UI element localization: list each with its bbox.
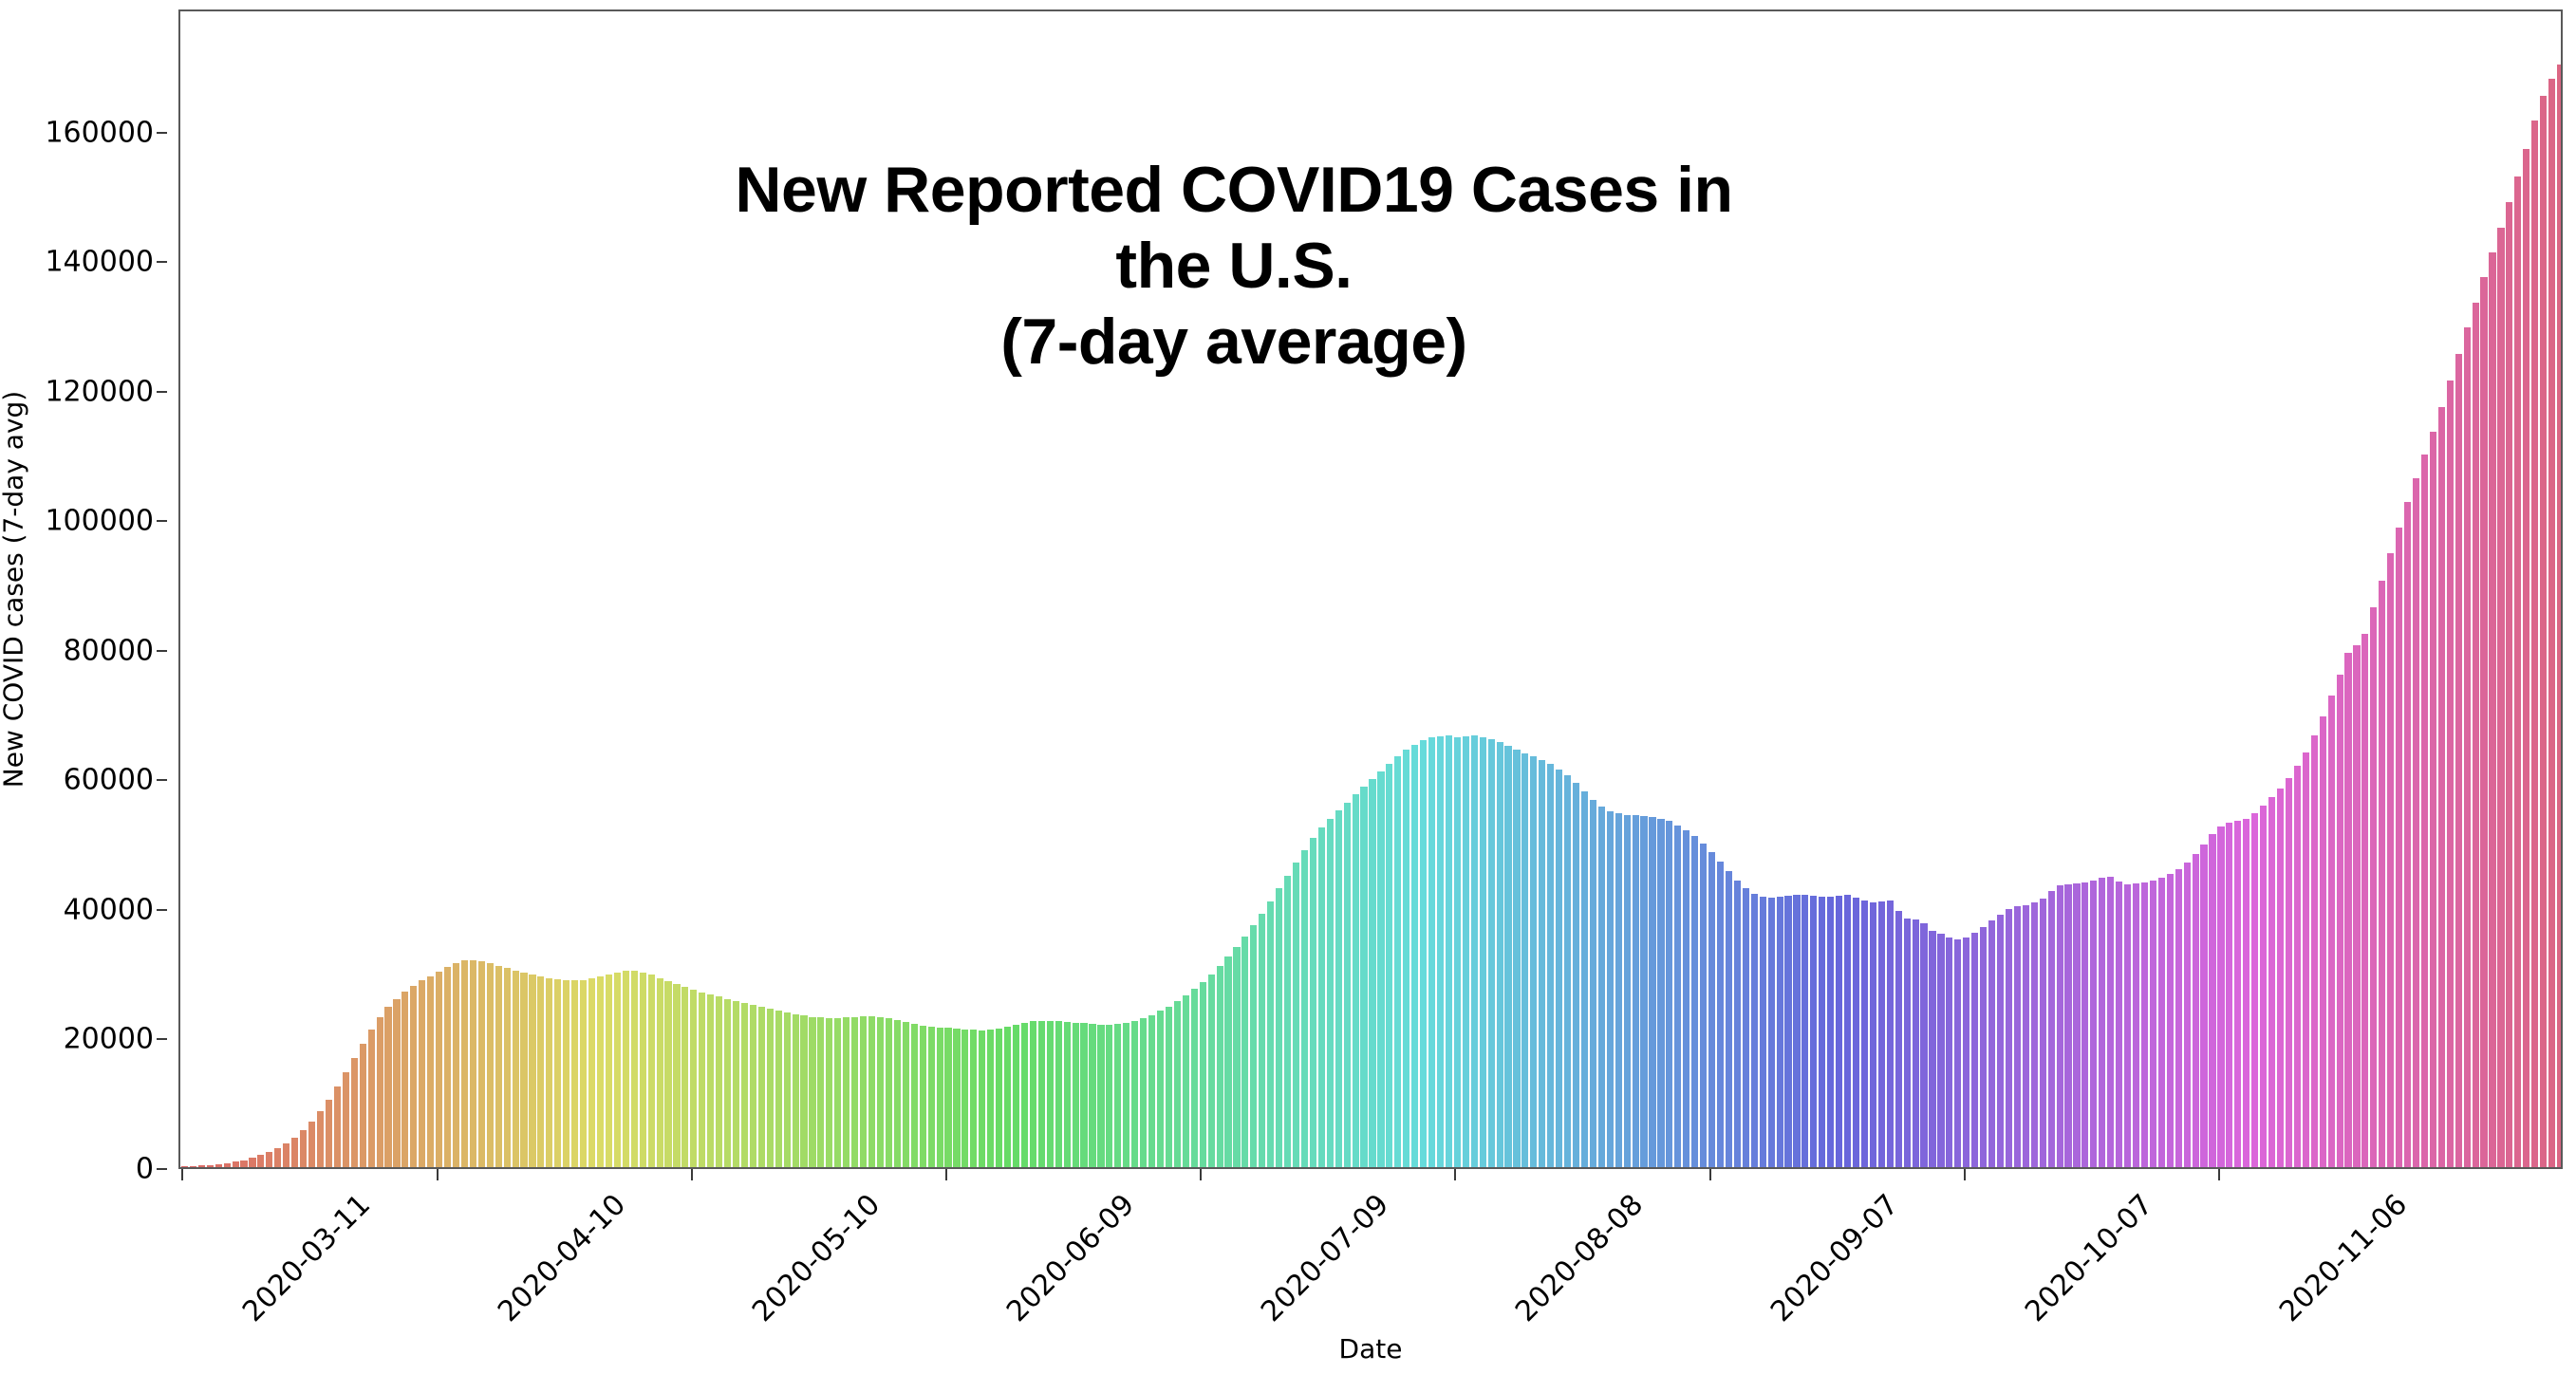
bar <box>2064 884 2071 1167</box>
bar <box>504 968 511 1167</box>
bar <box>2430 432 2436 1167</box>
bar <box>384 1007 391 1167</box>
bar <box>2404 502 2411 1167</box>
bar <box>2158 878 2165 1167</box>
bar <box>2387 553 2394 1167</box>
bar <box>1497 742 1503 1167</box>
bar <box>1946 938 1952 1167</box>
bar <box>1360 787 1367 1167</box>
bar <box>1327 819 1334 1167</box>
bar <box>1047 1021 1054 1167</box>
bar <box>673 984 680 1167</box>
bar <box>1980 927 1987 1167</box>
bar <box>690 990 697 1167</box>
bar <box>1743 888 1749 1167</box>
bar <box>1904 919 1911 1167</box>
bar <box>996 1029 1002 1167</box>
bar <box>181 1166 188 1167</box>
bar <box>1598 807 1605 1167</box>
bar <box>1148 1015 1155 1167</box>
bar <box>724 999 731 1167</box>
bar <box>1394 756 1401 1167</box>
x-tick-label: 2020-11-06 <box>2273 1188 2414 1328</box>
bar <box>1504 746 1511 1167</box>
bar <box>1446 735 1452 1167</box>
bar <box>1318 827 1325 1167</box>
bar <box>648 975 655 1167</box>
bar <box>546 978 552 1167</box>
y-tick-label: 40000 <box>64 893 154 926</box>
bar <box>198 1165 205 1167</box>
bar <box>1861 901 1868 1167</box>
bar <box>2217 826 2224 1167</box>
bar <box>664 981 671 1167</box>
y-tick-label: 160000 <box>45 116 154 149</box>
bar <box>877 1017 884 1167</box>
bar <box>886 1018 892 1167</box>
bar <box>343 1072 349 1167</box>
bar <box>377 1017 383 1167</box>
bar <box>2464 327 2471 1167</box>
chart-title-line1: New Reported COVID19 Cases in the U.S. <box>735 154 1732 302</box>
bar <box>1827 897 1834 1167</box>
bar <box>1615 813 1622 1167</box>
y-tick-mark <box>157 909 167 911</box>
bar <box>681 987 688 1167</box>
bar <box>1191 989 1198 1167</box>
bar <box>520 973 527 1167</box>
bar <box>826 1018 832 1167</box>
bar <box>1556 770 1562 1167</box>
bar <box>1106 1025 1112 1167</box>
bar <box>1064 1022 1071 1167</box>
bar <box>2260 806 2267 1167</box>
x-tick-label: 2020-07-09 <box>1255 1188 1395 1328</box>
bar <box>2184 863 2191 1167</box>
y-tick-label: 140000 <box>45 246 154 279</box>
bar <box>1276 888 1282 1167</box>
bar <box>775 1011 782 1167</box>
y-tick-mark <box>157 779 167 781</box>
bar <box>274 1148 281 1167</box>
bar <box>495 966 502 1167</box>
bar <box>606 975 612 1167</box>
bar <box>1284 876 1291 1167</box>
bar <box>2421 455 2428 1167</box>
bar <box>1174 1001 1181 1167</box>
bar <box>2379 581 2385 1168</box>
bar <box>2514 176 2521 1168</box>
bar <box>537 976 544 1167</box>
bar <box>1963 938 1969 1167</box>
chart-title-line2: (7-day average) <box>712 304 1756 380</box>
bar <box>487 963 494 1167</box>
bar <box>2480 277 2487 1167</box>
y-tick-mark <box>157 391 167 393</box>
bar <box>1734 881 1741 1167</box>
bar <box>1030 1021 1036 1167</box>
x-tick-mark <box>181 1169 183 1180</box>
bar <box>1259 914 1265 1167</box>
bar <box>571 980 578 1167</box>
bar <box>266 1152 272 1167</box>
bar <box>2150 881 2156 1167</box>
bar <box>300 1130 307 1167</box>
x-tick-label: 2020-06-09 <box>1000 1188 1141 1328</box>
bar <box>2531 121 2538 1167</box>
bar <box>793 1014 799 1167</box>
bar <box>453 963 459 1167</box>
bar <box>2506 202 2512 1167</box>
bar <box>1353 794 1359 1167</box>
x-tick-label: 2020-08-08 <box>1509 1188 1650 1328</box>
bar <box>1411 745 1418 1167</box>
bar <box>631 971 638 1167</box>
bar <box>1887 901 1894 1167</box>
bar <box>1386 764 1392 1167</box>
bar <box>233 1161 239 1167</box>
bar <box>1021 1023 1028 1167</box>
bar <box>2438 407 2445 1167</box>
x-tick-label: 2020-05-10 <box>746 1188 887 1328</box>
bar <box>1674 826 1681 1167</box>
y-axis-label: New COVID cases (7-day avg) <box>0 391 29 788</box>
bar <box>1590 800 1596 1167</box>
bar <box>1640 816 1647 1167</box>
chart-title: New Reported COVID19 Cases in the U.S. (… <box>712 152 1756 381</box>
bar <box>2048 891 2055 1168</box>
bar <box>834 1018 841 1167</box>
bar <box>401 992 408 1167</box>
bar <box>1183 995 1189 1167</box>
y-tick-mark <box>157 650 167 652</box>
bar <box>224 1163 231 1167</box>
bar <box>478 961 485 1167</box>
bar <box>800 1015 807 1167</box>
bar <box>1513 750 1520 1167</box>
bar <box>2175 869 2182 1167</box>
bar <box>2268 797 2275 1167</box>
bar <box>2413 478 2419 1167</box>
bar <box>444 967 451 1167</box>
bar <box>2167 874 2174 1167</box>
bar <box>868 1016 875 1167</box>
bar <box>2548 79 2555 1167</box>
bar <box>2286 778 2292 1167</box>
bar <box>2023 905 2029 1167</box>
bar <box>1301 850 1308 1168</box>
bar <box>1428 737 1435 1167</box>
bar <box>1810 896 1817 1167</box>
bar <box>1819 897 1825 1167</box>
bar <box>2489 252 2495 1167</box>
bar <box>2396 528 2402 1167</box>
bar <box>2014 906 2021 1167</box>
bar <box>657 978 663 1167</box>
bar <box>1241 937 1248 1167</box>
bar <box>2200 845 2207 1167</box>
bar <box>2193 854 2199 1167</box>
bar <box>987 1030 994 1167</box>
bar <box>767 1009 774 1167</box>
x-tick-mark <box>437 1169 439 1180</box>
bar <box>410 986 417 1167</box>
bar <box>1633 815 1639 1167</box>
bar <box>1004 1027 1011 1167</box>
bar <box>1114 1024 1121 1167</box>
bar <box>817 1017 824 1167</box>
x-tick-mark <box>945 1169 947 1180</box>
bar <box>2540 96 2547 1167</box>
bar <box>1954 939 1961 1167</box>
x-tick-mark <box>1964 1169 1966 1180</box>
bar <box>1853 898 1859 1167</box>
bar <box>1708 852 1715 1167</box>
bar <box>961 1030 968 1167</box>
bar <box>2124 884 2131 1167</box>
bar <box>707 994 714 1167</box>
bar <box>2090 881 2097 1167</box>
bar <box>741 1003 748 1167</box>
y-tick-mark <box>157 1038 167 1040</box>
x-tick-mark <box>1454 1169 1456 1180</box>
y-tick-label: 120000 <box>45 375 154 408</box>
bar <box>2311 735 2318 1167</box>
bar <box>1530 756 1537 1168</box>
bar <box>1607 811 1614 1167</box>
bar <box>1895 911 1902 1167</box>
x-tick-mark <box>691 1169 693 1180</box>
bar <box>2133 883 2139 1167</box>
bar <box>2116 882 2122 1167</box>
bar <box>2473 303 2479 1167</box>
bar <box>750 1005 756 1167</box>
bar <box>1038 1021 1045 1167</box>
bar <box>580 980 587 1167</box>
bar <box>1649 817 1655 1167</box>
bar <box>758 1007 765 1167</box>
bar <box>1140 1018 1147 1167</box>
bar <box>699 993 705 1167</box>
y-tick-mark <box>157 261 167 263</box>
bar <box>2099 878 2105 1167</box>
x-tick-label: 2020-09-07 <box>1764 1188 1905 1328</box>
bar <box>1233 947 1240 1167</box>
bar <box>2337 675 2343 1167</box>
bar <box>2353 645 2360 1167</box>
bar <box>1717 862 1724 1167</box>
bar <box>1480 737 1486 1167</box>
bar <box>317 1111 324 1167</box>
bar <box>1403 750 1409 1167</box>
bar <box>1157 1011 1164 1167</box>
x-tick-mark <box>2218 1169 2220 1180</box>
bar <box>716 996 722 1167</box>
bar <box>1971 933 1978 1167</box>
bar <box>190 1166 196 1167</box>
bar <box>843 1017 849 1167</box>
bar <box>2328 696 2335 1167</box>
bar <box>860 1016 867 1167</box>
bar <box>1471 735 1478 1167</box>
bar <box>2497 228 2504 1167</box>
bar <box>1760 897 1766 1167</box>
bar <box>2303 752 2309 1167</box>
bar <box>2361 634 2368 1167</box>
bar <box>640 973 646 1167</box>
bar <box>283 1143 289 1167</box>
bar <box>937 1028 943 1167</box>
bar <box>2370 607 2377 1167</box>
bar <box>1166 1007 1172 1167</box>
bar <box>1369 779 1375 1167</box>
bar <box>920 1026 926 1168</box>
x-tick-label: 2020-04-10 <box>492 1188 632 1328</box>
bar <box>2040 899 2046 1167</box>
bar <box>368 1030 375 1167</box>
bar <box>1454 737 1461 1167</box>
bar <box>953 1029 960 1167</box>
bar <box>1683 830 1689 1167</box>
bar <box>393 999 400 1167</box>
bar <box>1055 1021 1062 1167</box>
bar <box>2251 813 2258 1167</box>
bar <box>2006 909 2012 1167</box>
bar <box>1784 896 1791 1167</box>
x-tick-mark <box>1200 1169 1202 1180</box>
bar <box>1844 895 1851 1167</box>
bar <box>1267 901 1274 1167</box>
y-tick-label: 100000 <box>45 505 154 538</box>
bar <box>784 1012 791 1167</box>
bar <box>623 971 629 1167</box>
bar <box>1097 1025 1104 1167</box>
bar <box>1751 894 1758 1167</box>
bar <box>1521 753 1528 1167</box>
bar <box>2294 766 2301 1167</box>
bar <box>2081 882 2088 1167</box>
bar <box>2209 834 2215 1167</box>
bar <box>2057 885 2063 1167</box>
bar <box>1929 931 1935 1167</box>
bar <box>1801 895 1808 1167</box>
bar <box>1988 920 1995 1167</box>
bar <box>2557 65 2563 1167</box>
bar <box>1573 783 1579 1167</box>
bar <box>851 1017 858 1167</box>
bar <box>334 1086 341 1167</box>
bar <box>529 975 535 1167</box>
bar <box>2523 149 2529 1167</box>
bar <box>1836 896 1842 1167</box>
bar <box>2107 877 2114 1167</box>
bar <box>1581 791 1588 1167</box>
bar <box>2226 823 2232 1167</box>
bar <box>1073 1023 1079 1167</box>
bar <box>1310 838 1316 1167</box>
x-axis: 2020-03-112020-04-102020-05-102020-06-09… <box>0 1169 2576 1374</box>
bar <box>970 1030 977 1167</box>
bar <box>1777 897 1783 1167</box>
bar <box>1624 815 1631 1167</box>
x-tick-mark <box>1709 1169 1711 1180</box>
bar <box>2243 819 2249 1167</box>
bar <box>1997 915 2004 1167</box>
bar <box>1539 760 1545 1167</box>
bar <box>597 976 604 1167</box>
bar <box>733 1001 739 1167</box>
bar <box>2455 354 2462 1167</box>
bar <box>1293 863 1299 1167</box>
bar <box>1089 1024 1095 1167</box>
bar <box>1013 1025 1019 1167</box>
bar <box>291 1138 298 1167</box>
bar <box>1131 1021 1138 1167</box>
bar <box>1657 819 1664 1167</box>
bar <box>588 978 595 1167</box>
bar <box>2277 789 2284 1167</box>
bar <box>944 1028 951 1167</box>
bar <box>554 979 561 1167</box>
bar <box>436 972 442 1167</box>
y-tick-label: 60000 <box>64 764 154 797</box>
bar <box>215 1164 222 1167</box>
bar <box>563 980 569 1167</box>
y-tick-label: 20000 <box>64 1023 154 1056</box>
bar <box>427 976 434 1167</box>
bar <box>1344 803 1351 1167</box>
chart-canvas: 0200004000060000800001000001200001400001… <box>0 0 2576 1374</box>
bar <box>360 1044 366 1167</box>
bar <box>809 1017 815 1167</box>
bar <box>1463 736 1469 1167</box>
x-tick-label: 2020-10-07 <box>2019 1188 2159 1328</box>
bar <box>2344 653 2351 1167</box>
bar <box>1200 982 1206 1167</box>
bar <box>928 1027 935 1167</box>
bar <box>1488 739 1495 1167</box>
bar <box>1224 956 1231 1167</box>
bar <box>1768 898 1775 1167</box>
bar <box>2141 882 2148 1167</box>
bar <box>249 1158 255 1167</box>
bar <box>257 1155 264 1167</box>
bar <box>1793 895 1800 1167</box>
bar <box>1691 836 1698 1167</box>
y-tick-mark <box>157 520 167 522</box>
bar <box>1920 923 1927 1167</box>
bar <box>1937 934 1944 1167</box>
bar <box>1564 775 1571 1167</box>
y-tick-label: 80000 <box>64 634 154 667</box>
y-tick-mark <box>157 132 167 134</box>
bar <box>979 1030 985 1167</box>
bar <box>2447 381 2454 1167</box>
bar <box>2234 821 2241 1167</box>
bar <box>614 973 621 1167</box>
bar <box>1335 810 1342 1167</box>
bar <box>326 1100 332 1167</box>
bar <box>1250 925 1257 1167</box>
bar <box>1437 736 1444 1167</box>
bar <box>894 1020 901 1167</box>
bar <box>207 1165 214 1167</box>
bar <box>1870 902 1876 1167</box>
bar <box>461 960 468 1167</box>
x-axis-label: Date <box>1339 1333 1403 1365</box>
bar <box>1726 871 1732 1167</box>
bar <box>1878 901 1885 1167</box>
